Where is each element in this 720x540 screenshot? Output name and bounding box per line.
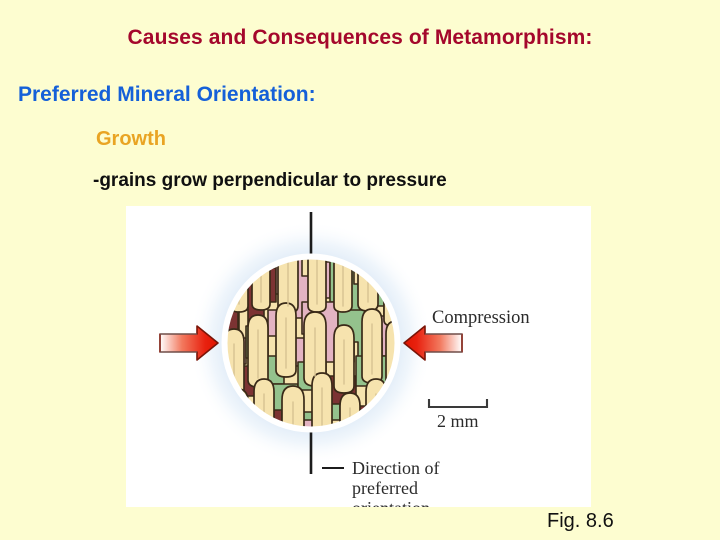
figure-number-caption: Fig. 8.6 [547, 510, 614, 533]
section-heading: Preferred Mineral Orientation: [18, 83, 316, 107]
figure-panel: Compression 2 mm Direction of preferred … [126, 206, 591, 507]
compression-label: Compression [432, 308, 530, 328]
scale-bar [429, 399, 487, 407]
bullet-grains-grow: -grains grow perpendicular to pressure [93, 170, 447, 192]
orientation-label-line3: orientation [352, 498, 430, 507]
scale-bar-label: 2 mm [437, 411, 479, 431]
orientation-label-line2: preferred [352, 478, 418, 498]
metamorphism-diagram: Compression 2 mm Direction of preferred … [126, 206, 591, 507]
slide-canvas: Causes and Consequences of Metamorphism:… [0, 0, 720, 540]
page-title: Causes and Consequences of Metamorphism: [0, 26, 720, 50]
sub-heading-growth: Growth [96, 128, 166, 151]
orientation-label-line1: Direction of [352, 458, 439, 478]
